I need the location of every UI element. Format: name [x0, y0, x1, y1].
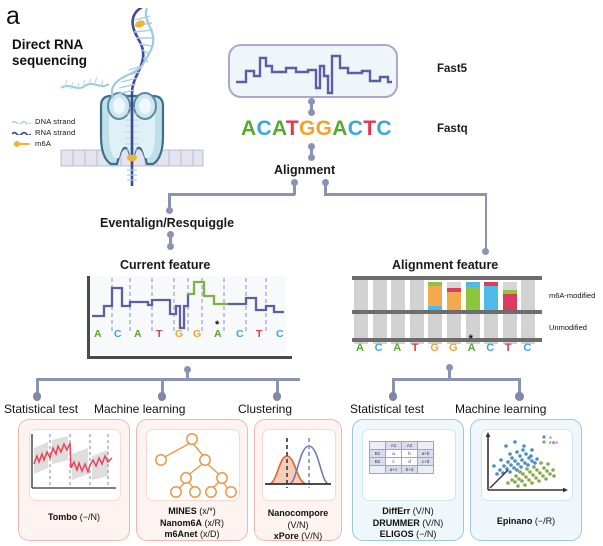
alignment-modified-cell-9 [521, 280, 535, 310]
contingency-header-row: A1A2 [370, 442, 434, 450]
current-feature-modification-marker: * [215, 319, 219, 331]
contingency-row-1: B2cdc+d [370, 458, 434, 466]
card-labels-clustering: Nanocompore (V/N) xPore (V/N) [255, 508, 341, 543]
connector-knob [184, 366, 191, 373]
contingency-cell: b [402, 450, 418, 458]
alignment-feature-plot: ACATGGACTC* [352, 276, 542, 364]
tool-nanocompore-suffix: (V/N) [255, 520, 341, 532]
card-labels-ml-current: MINES (x/*) Nanom6A (x/R) m6Anet (x/D) [137, 506, 247, 541]
contingency-cell [370, 442, 386, 450]
card-statistical-test-current[interactable]: Tombo (−/N) [18, 419, 130, 541]
fastq-base-6: A [332, 117, 347, 140]
current-feature-title: Current feature [120, 258, 210, 272]
current-feature-base-3: T [156, 328, 162, 340]
contingency-cell: a+c [386, 466, 402, 474]
tool-xpore: xPore (V/N) [255, 531, 341, 543]
group-title-clustering-current: Clustering [238, 402, 292, 416]
fastq-base-4: G [299, 117, 316, 140]
connector-alnfeat-bus [392, 378, 521, 381]
connector-knob [482, 248, 489, 255]
legend-label-m6a: m6A [35, 139, 51, 148]
tool-epinano: Epinano (−/R) [471, 516, 581, 528]
alignment-feature-base-4: G [430, 342, 439, 354]
distribution-curves-thumb [262, 429, 336, 501]
group-title-statistical-test-alignment: Statistical test [350, 402, 424, 416]
connector-knob [446, 364, 453, 371]
connector-knob [167, 243, 174, 250]
connector-knob [308, 98, 315, 105]
tool-m6anet: m6Anet (x/D) [137, 529, 247, 541]
alignment-feature-sequence: ACATGGACTC* [352, 342, 542, 358]
decision-tree-thumb [146, 429, 240, 501]
card-labels-tombo: Tombo (−/N) [19, 512, 129, 524]
alignment-label: Alignment [274, 163, 335, 177]
alignment-bar-segment-4-2 [428, 282, 442, 286]
connector-knob [389, 392, 398, 401]
fastq-base-7: C [348, 117, 363, 140]
contingency-cell: c+d [418, 458, 434, 466]
group-title-statistical-test-current: Statistical test [4, 402, 78, 416]
current-feature-base-4: G [175, 328, 183, 340]
fastq-base-1: C [256, 117, 271, 140]
contingency-row-0: B1aba+b [370, 450, 434, 458]
contingency-cell [370, 466, 386, 474]
alignment-feature-base-2: A [393, 342, 401, 354]
connector-knob [515, 392, 524, 401]
current-feature-base-5: G [193, 328, 201, 340]
connector-knob [308, 154, 315, 161]
group-title-machine-learning-alignment: Machine learning [455, 402, 546, 416]
alignment-modified-cell-4 [428, 280, 442, 310]
connector-knob [166, 207, 173, 214]
alignment-bar-segment-7-1 [484, 282, 498, 286]
alignment-feature-base-7: C [486, 342, 494, 354]
dna-strand-icon [12, 117, 31, 126]
current-feature-base-9: C [276, 328, 284, 340]
current-feature-base-1: C [114, 328, 122, 340]
connector-alignment-right-h [324, 193, 487, 196]
contingency-cell [418, 466, 434, 474]
alignment-modified-cell-3 [410, 280, 424, 310]
card-labels-epinano: Epinano (−/R) [471, 516, 581, 528]
contingency-cell: c [386, 458, 402, 466]
tool-mines: MINES (x/*) [137, 506, 247, 518]
card-clustering-current[interactable]: Nanocompore (V/N) xPore (V/N) [254, 419, 342, 541]
alignment-feature-base-0: A [356, 342, 364, 354]
tool-eligos: ELIGOS (−/N) [353, 529, 463, 541]
current-feature-x-axis [87, 356, 292, 359]
alignment-bar-segment-8-1 [503, 290, 517, 294]
connector-knob [158, 392, 167, 401]
contingency-cell: A2 [402, 442, 418, 450]
contingency-cell: b+d [402, 466, 418, 474]
alignment-bar-segment-5-2 [447, 282, 461, 288]
alignment-feature-base-1: C [375, 342, 383, 354]
alignment-feature-modified-label: m6A-modified [549, 291, 595, 300]
fast5-label: Fast5 [437, 63, 467, 75]
connector-knob [273, 392, 282, 401]
alignment-modified-cell-6 [466, 280, 480, 310]
alignment-modified-cell-2 [391, 280, 405, 310]
contingency-row-2: a+cb+d [370, 466, 434, 474]
current-feature-plot: ACATGGACTC* [80, 276, 295, 368]
tool-nanom6a: Nanom6A (x/R) [137, 518, 247, 530]
alignment-bar-segment-8-2 [503, 282, 517, 290]
alignment-feature-base-5: G [449, 342, 458, 354]
panel-letter: a [6, 2, 20, 31]
fastq-label: Fastq [437, 123, 468, 135]
alignment-modified-cell-5 [447, 280, 461, 310]
contingency-table-thumb: A1A2B1aba+bB2cdc+da+cb+d [362, 429, 456, 501]
connector-knob [308, 143, 315, 150]
current-feature-base-2: A [134, 328, 142, 340]
current-feature-sequence: ACATGGACTC* [90, 328, 286, 346]
card-machine-learning-current[interactable]: MINES (x/*) Nanom6A (x/R) m6Anet (x/D) [136, 419, 248, 541]
connector-alignment-left-h [168, 193, 295, 196]
fastq-base-0: A [241, 117, 256, 140]
contingency-cell [418, 442, 434, 450]
tool-nanocompore: Nanocompore [255, 508, 341, 520]
fastq-base-8: T [363, 117, 376, 140]
tool-tombo: Tombo (−/N) [19, 512, 129, 524]
card-machine-learning-alignment[interactable]: A m6A Epinano (−/R) [470, 419, 582, 541]
connector-alnfeat-drop [485, 193, 488, 251]
alignment-bar-segment-6-0 [466, 287, 480, 310]
svg-text:m6A: m6A [549, 440, 558, 445]
signal-trace-thumb [29, 429, 121, 501]
fastq-base-3: T [286, 117, 299, 140]
alignment-feature-unmodified-label: Unmodified [549, 323, 587, 332]
rna-strand-icon [12, 128, 31, 137]
fast5-signal-box [228, 44, 398, 98]
card-labels-stat-alignment: DiffErr (V/N) DRUMMER (V/N) ELIGOS (−/N) [353, 506, 463, 541]
contingency-cell: a+b [418, 450, 434, 458]
group-title-machine-learning-current: Machine learning [94, 402, 185, 416]
connector-knob [167, 231, 174, 238]
fastq-base-9: C [376, 117, 391, 140]
alignment-bar-segment-6-1 [466, 282, 480, 287]
current-feature-base-7: C [236, 328, 244, 340]
current-feature-base-8: T [256, 328, 262, 340]
alignment-modified-cell-0 [354, 280, 368, 310]
alignment-bar-segment-4-1 [428, 286, 442, 306]
tool-differr: DiffErr (V/N) [353, 506, 463, 518]
contingency-cell: B1 [370, 450, 386, 458]
alignment-modified-cell-8 [503, 280, 517, 310]
alignment-bar-segment-5-0 [447, 292, 461, 310]
alignment-feature-base-9: C [523, 342, 531, 354]
card-statistical-test-alignment[interactable]: A1A2B1aba+bB2cdc+da+cb+d DiffErr (V/N) D… [352, 419, 464, 541]
alignment-bar-segment-7-0 [484, 286, 498, 310]
connector-knob [33, 392, 42, 401]
contingency-cell: B2 [370, 458, 386, 466]
alignment-modified-cell-1 [373, 280, 387, 310]
contingency-cell: a [386, 450, 402, 458]
contingency-cell: A1 [386, 442, 402, 450]
fastq-base-2: A [272, 117, 286, 140]
scatter-plot-thumb: A m6A [481, 429, 573, 501]
alignment-feature-title: Alignment feature [392, 258, 498, 272]
alignment-modified-cell-7 [484, 280, 498, 310]
alignment-feature-base-8: T [505, 342, 512, 354]
alignment-feature-modification-marker: * [469, 333, 473, 345]
alignment-feature-modified-track [352, 280, 542, 310]
current-feature-base-0: A [94, 328, 102, 340]
eventalign-resquiggle-label: Eventalign/Resquiggle [100, 216, 234, 230]
alignment-bar-segment-5-1 [447, 288, 461, 292]
connector-curfeat-bus [36, 378, 300, 381]
alignment-bar-segment-8-0 [503, 294, 517, 310]
contingency-cell: d [402, 458, 418, 466]
connector-knob [308, 109, 315, 116]
fastq-sequence: ACATGGACTC [241, 117, 392, 141]
m6a-icon [12, 139, 31, 148]
contingency-table: A1A2B1aba+bB2cdc+da+cb+d [369, 441, 434, 474]
fastq-base-5: G [316, 117, 333, 140]
tool-drummer: DRUMMER (V/N) [353, 518, 463, 530]
alignment-feature-base-3: T [412, 342, 419, 354]
nanopore-illustration [55, 8, 210, 186]
